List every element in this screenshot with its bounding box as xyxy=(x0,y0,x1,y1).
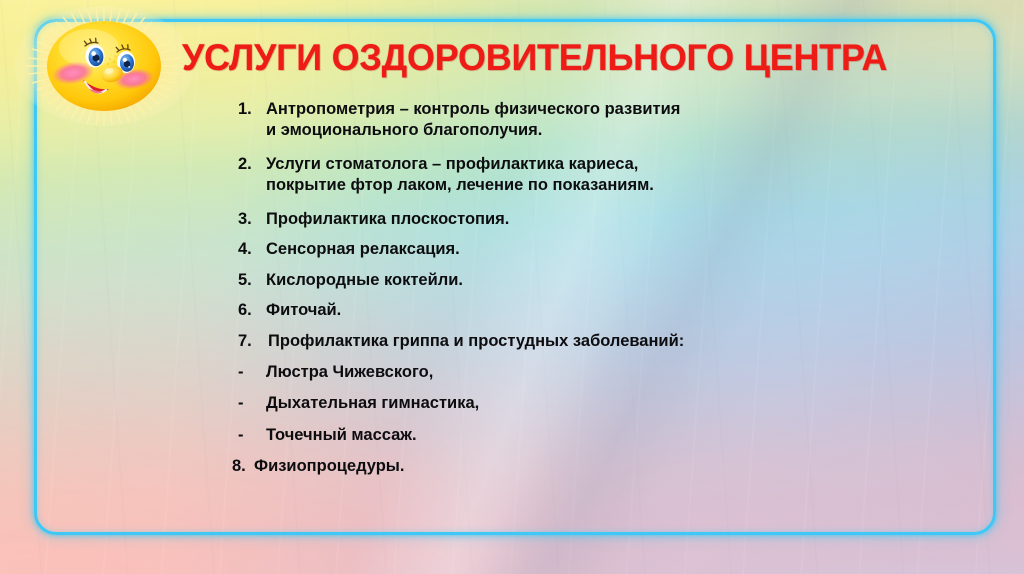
list-item-text: Антропометрия – контроль физического раз… xyxy=(266,99,898,142)
list-item-marker: 4. xyxy=(238,239,266,260)
list-spacer xyxy=(238,230,898,239)
list-item: - Дыхательная гимнастика, xyxy=(238,393,898,414)
list-item-marker: 3. xyxy=(238,209,266,230)
list-item-text: Профилактика гриппа и простудных заболев… xyxy=(268,331,898,352)
list-spacer xyxy=(238,142,898,154)
page-title: УСЛУГИ ОЗДОРОВИТЕЛЬНОГО ЦЕНТРА xyxy=(182,33,861,83)
list-spacer xyxy=(238,446,898,456)
list-item: 1. Антропометрия – контроль физического … xyxy=(238,99,898,142)
list-item: 8. Физиопроцедуры. xyxy=(232,456,898,477)
list-item: 6. Фиточай. xyxy=(238,300,898,321)
list-item-marker: - xyxy=(238,425,266,446)
list-item-line-2: и эмоционального благополучия. xyxy=(266,120,898,141)
list-item-marker: - xyxy=(238,393,266,414)
list-spacer xyxy=(238,197,898,209)
list-item: 2. Услуги стоматолога – профилактика кар… xyxy=(238,154,898,197)
list-item-text: Физиопроцедуры. xyxy=(254,456,898,477)
services-list: 1. Антропометрия – контроль физического … xyxy=(238,99,898,478)
list-item-marker: 7. xyxy=(238,331,268,352)
list-item-text: Услуги стоматолога – профилактика кариес… xyxy=(266,154,898,197)
list-item-text: Дыхательная гимнастика, xyxy=(266,393,898,414)
list-spacer xyxy=(238,352,898,362)
list-item: 7. Профилактика гриппа и простудных забо… xyxy=(238,331,898,352)
list-spacer xyxy=(238,261,898,270)
list-item-marker: 5. xyxy=(238,270,266,291)
list-item: - Люстра Чижевского, xyxy=(238,362,898,383)
slide-canvas: УСЛУГИ ОЗДОРОВИТЕЛЬНОГО ЦЕНТРА 1. Антроп… xyxy=(0,0,1024,574)
list-item: 4. Сенсорная релаксация. xyxy=(238,239,898,260)
list-item-text: Фиточай. xyxy=(266,300,898,321)
list-spacer xyxy=(238,322,898,331)
list-item-line-1: Услуги стоматолога – профилактика кариес… xyxy=(266,155,638,173)
list-item-marker: 8. xyxy=(232,456,254,477)
list-item-text: Точечный массаж. xyxy=(266,425,898,446)
list-item-marker: - xyxy=(238,362,266,383)
list-spacer xyxy=(238,291,898,300)
list-item: - Точечный массаж. xyxy=(238,425,898,446)
list-item-text: Профилактика плоскостопия. xyxy=(266,209,898,230)
list-item-text: Сенсорная релаксация. xyxy=(266,239,898,260)
list-item: 5. Кислородные коктейли. xyxy=(238,270,898,291)
list-item-line-2: покрытие фтор лаком, лечение по показани… xyxy=(266,175,898,196)
list-item-marker: 1. xyxy=(238,99,266,120)
list-spacer xyxy=(238,415,898,425)
sun-mascot-icon xyxy=(11,4,197,128)
list-item-text: Кислородные коктейли. xyxy=(266,270,898,291)
list-item-line-1: Антропометрия – контроль физического раз… xyxy=(266,100,680,118)
list-item-text: Люстра Чижевского, xyxy=(266,362,898,383)
list-item-marker: 6. xyxy=(238,300,266,321)
list-spacer xyxy=(238,383,898,393)
list-item-marker: 2. xyxy=(238,154,266,175)
list-item: 3. Профилактика плоскостопия. xyxy=(238,209,898,230)
